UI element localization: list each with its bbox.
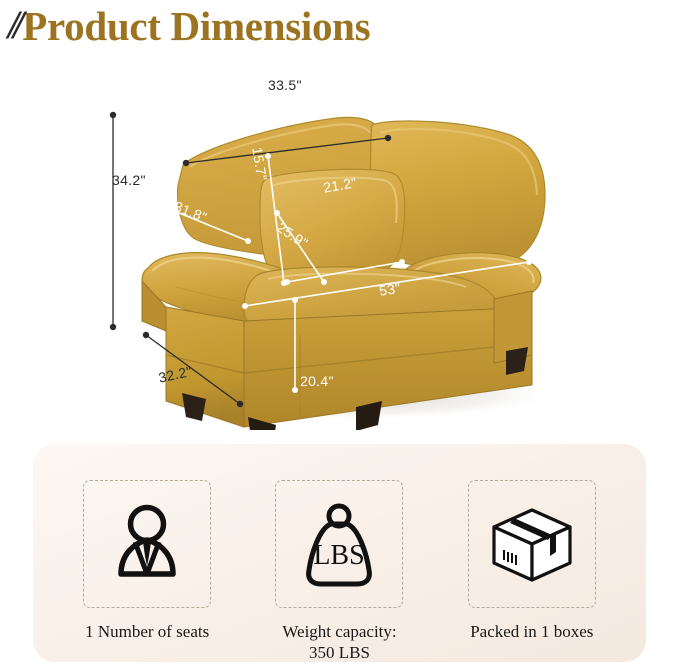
page-title-text: Product Dimensions [22,6,370,47]
boxes-label: Packed in 1 boxes [470,621,593,642]
sofa-diagram: 33.5" 34.2" 15.7" 21.2" 31.8" 25.9" 53" … [0,55,679,430]
weight-icon-text: LBS [314,540,365,571]
dimension-label-34-2: 34.2" [112,172,146,188]
dimension-label-53: 53" [378,280,402,299]
boxes-icon-box [468,480,596,608]
seats-icon-box [83,480,211,608]
person-icon [99,496,195,592]
specs-panel: 1 Number of seats LBS Weight capacity: 3… [33,444,646,662]
spec-card-weight: LBS Weight capacity: 350 LBS [254,480,424,664]
shipping-box-icon [484,496,580,592]
spec-card-seats: 1 Number of seats [62,480,232,642]
weight-label: Weight capacity: 350 LBS [282,621,396,664]
dimension-label-33-5: 33.5" [268,77,302,93]
product-dimensions-infographic: // Product Dimensions [0,0,679,670]
dimension-label-20-4: 20.4" [300,373,334,389]
spec-card-boxes: Packed in 1 boxes [447,480,617,642]
page-title: // Product Dimensions [8,2,370,50]
seats-label: 1 Number of seats [85,621,209,642]
sofa-illustration [0,55,679,430]
title-slashes-decoration: // [8,5,18,45]
weight-lbs-icon: LBS [291,496,387,592]
weight-icon-box: LBS [275,480,403,608]
